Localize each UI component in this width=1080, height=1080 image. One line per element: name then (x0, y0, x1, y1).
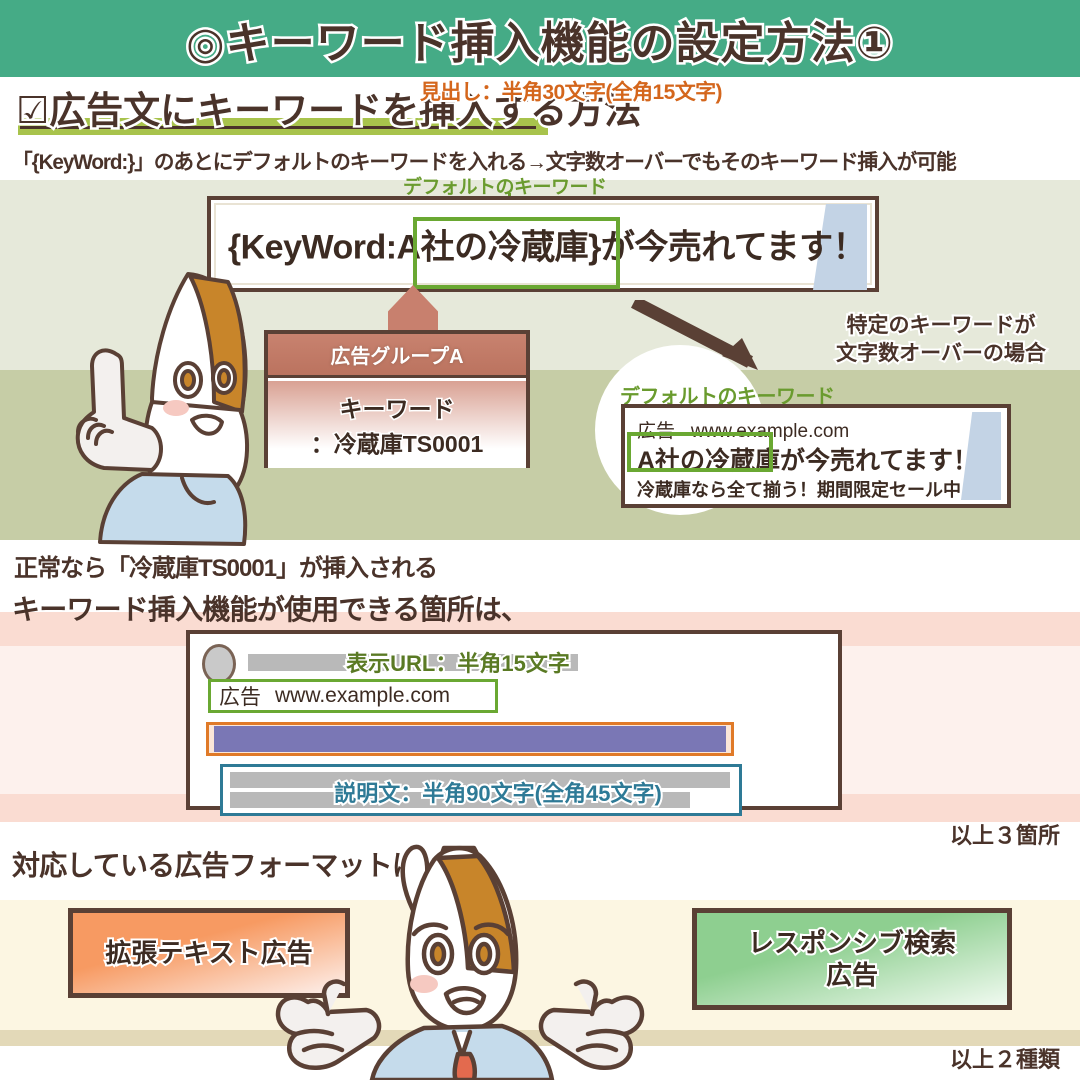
ad-badge: 広告 (219, 681, 261, 711)
overflow-keyword-highlight-box (627, 432, 773, 472)
ad-preview-description: 冷蔵庫なら全て揃う！期間限定セール中 (637, 476, 961, 502)
format-right-label-line2: 広告 (826, 960, 878, 990)
default-keyword-highlight-box (413, 217, 620, 289)
ad-url-row: 広告 www.example.com (208, 679, 498, 713)
ad-group-box: 広告グループA キーワード ：冷蔵庫TS0001 (264, 330, 530, 468)
format-right-label-line1: レスポンシブ検索 (748, 928, 956, 958)
display-url-label: 表示URL：半角15文字 (130, 646, 786, 678)
overflow-label-line1: 特定のキーワードが (810, 312, 1072, 340)
ad-group-header: 広告グループA (268, 334, 526, 378)
overflow-label-line2: 文字数オーバーの場合 (810, 340, 1072, 368)
page-title: ◎キーワード挿入機能の設定方法① (0, 0, 1080, 77)
headline-label: 見出し：半角30文字(全角15文字) (420, 76, 722, 106)
infographic-root: ◎キーワード挿入機能の設定方法① ☑広告文にキーワードを挿入する方法 「{Key… (0, 0, 1080, 1080)
overflow-case-label: 特定のキーワードが 文字数オーバーの場合 (810, 312, 1072, 367)
headline-placeholder-bar (214, 726, 726, 752)
note-where-usable: キーワード挿入機能が使用できる箇所は、 (12, 588, 528, 628)
diagonal-arrow-icon (630, 300, 800, 380)
default-keyword-label-top: デフォルトのキーワード (403, 172, 607, 199)
character-illustration-left (0, 262, 292, 562)
ad-group-keyword-value: ：冷蔵庫TS0001 (311, 425, 484, 459)
ad-spec-panel: 表示URL：半角15文字 広告 www.example.com 説明文：半角90… (186, 630, 842, 810)
note-normal-insert: 正常なら「冷蔵庫TS0001」が挿入される (14, 548, 437, 583)
ad-url-text: www.example.com (275, 684, 450, 708)
formats-count-note: 以上２種類 (0, 1042, 1060, 1074)
ad-group-keyword-label: キーワード (340, 390, 455, 424)
format-box-responsive-search-ad: レスポンシブ検索 広告 (692, 908, 1012, 1010)
ad-group-body: キーワード ：冷蔵庫TS0001 (268, 381, 526, 468)
description-label: 説明文：半角90文字(全角45文字) (170, 776, 826, 808)
